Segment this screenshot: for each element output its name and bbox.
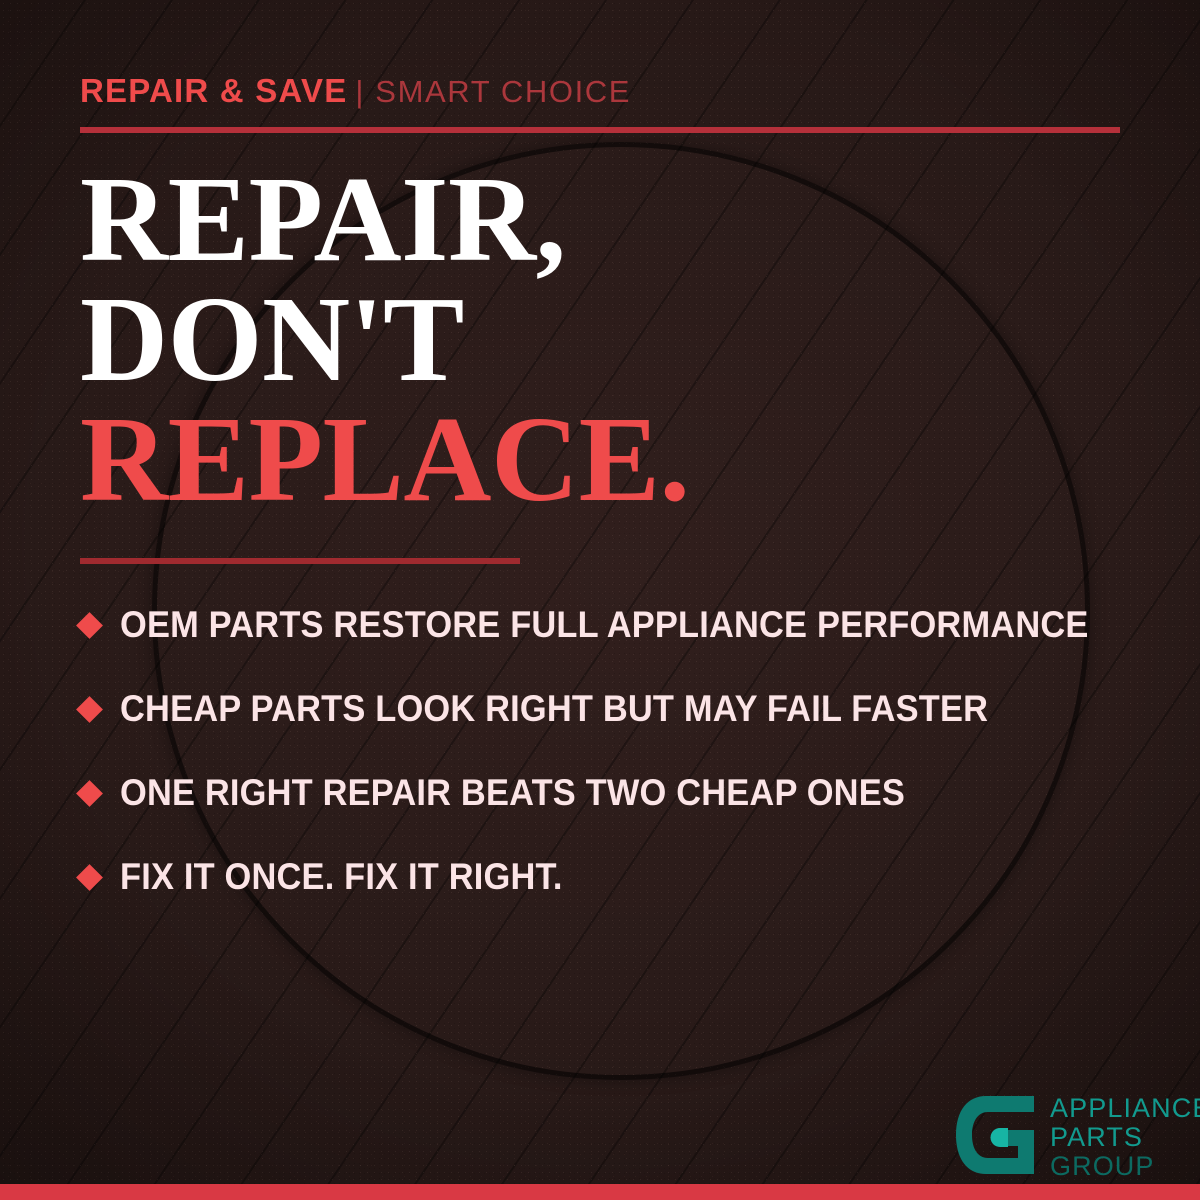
headline-line-1: REPAIR, [80,160,1140,280]
brand-word-line-2: PARTS [1050,1123,1200,1152]
diamond-bullet-icon [76,864,103,891]
diamond-bullet-icon [76,696,103,723]
brand-logo: APPLIANCE PARTS GROUP [952,1092,1200,1181]
headline-divider-rule [80,558,520,564]
poster-content: REPAIR & SAVE| SMART CHOICE REPAIR, DON'… [0,0,1200,1200]
diamond-bullet-icon [76,780,103,807]
bottom-accent-bar [0,1184,1200,1200]
g-monogram-icon [952,1092,1038,1178]
bullet-text: CHEAP PARTS LOOK RIGHT BUT MAY FAIL FAST… [120,688,988,730]
bullet-text: OEM PARTS RESTORE FULL APPLIANCE PERFORM… [120,604,1089,646]
bullet-text: ONE RIGHT REPAIR BEATS TWO CHEAP ONES [120,772,905,814]
brand-word-line-1: APPLIANCE [1050,1094,1200,1123]
eyebrow-kicker: REPAIR & SAVE| SMART CHOICE [80,74,631,107]
header-divider-rule [80,127,1120,133]
headline-line-3: REPLACE. [80,400,1140,520]
diamond-bullet-icon [76,612,103,639]
headline-line-2: DON'T [80,280,1140,400]
eyebrow-strong-text: REPAIR & SAVE [80,72,347,109]
list-item: CHEAP PARTS LOOK RIGHT BUT MAY FAIL FAST… [80,667,1150,751]
headline: REPAIR, DON'T REPLACE. [80,160,1140,520]
bullet-list: OEM PARTS RESTORE FULL APPLIANCE PERFORM… [80,583,1150,919]
list-item: FIX IT ONCE. FIX IT RIGHT. [80,835,1150,919]
brand-logo-wordmark: APPLIANCE PARTS GROUP [1050,1092,1200,1181]
bullet-text: FIX IT ONCE. FIX IT RIGHT. [120,856,563,898]
poster-canvas: REPAIR & SAVE| SMART CHOICE REPAIR, DON'… [0,0,1200,1200]
brand-word-line-3: GROUP [1050,1152,1200,1181]
eyebrow-light-text: | SMART CHOICE [355,74,631,109]
list-item: ONE RIGHT REPAIR BEATS TWO CHEAP ONES [80,751,1150,835]
list-item: OEM PARTS RESTORE FULL APPLIANCE PERFORM… [80,583,1150,667]
